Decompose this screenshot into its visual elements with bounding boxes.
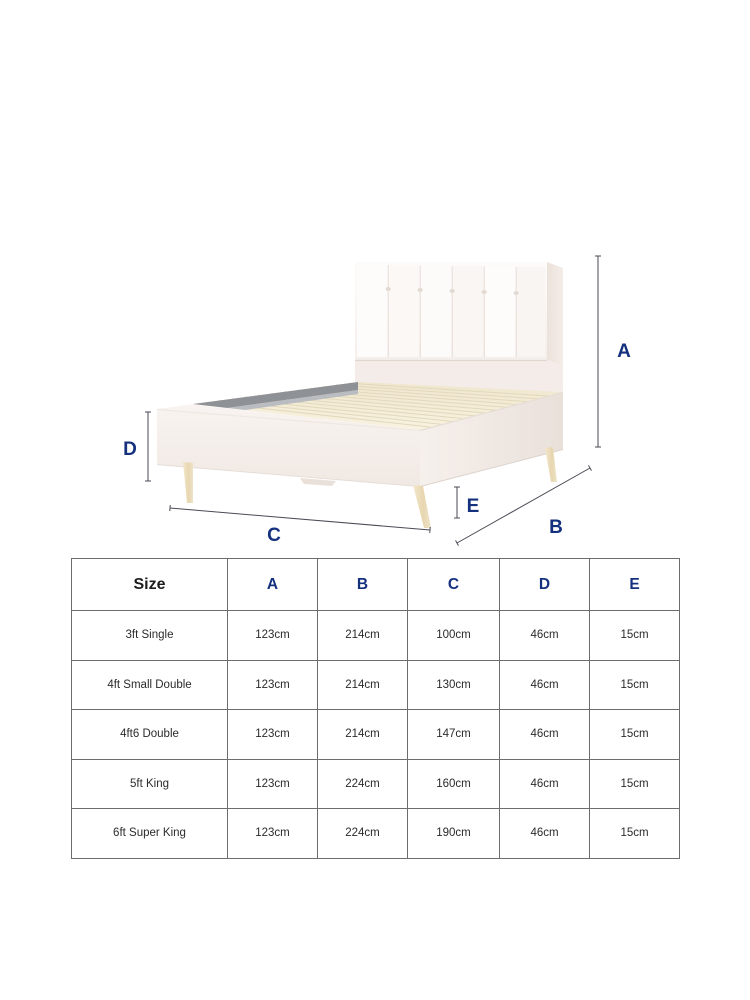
product-dimensions-page: A B C D E Size A B C D E: [0, 0, 750, 1000]
dimension-label-a: A: [617, 341, 631, 362]
cell-a: 123cm: [228, 660, 318, 710]
cell-a: 123cm: [228, 710, 318, 760]
cell-size: 4ft6 Double: [72, 710, 228, 760]
cell-c: 190cm: [408, 809, 500, 859]
cell-b: 224cm: [318, 809, 408, 859]
cell-b: 214cm: [318, 710, 408, 760]
cell-d: 46cm: [500, 759, 590, 809]
cell-size: 4ft Small Double: [72, 660, 228, 710]
cell-a: 123cm: [228, 809, 318, 859]
column-header-c: C: [408, 559, 500, 611]
cell-e: 15cm: [590, 710, 680, 760]
cell-e: 15cm: [590, 809, 680, 859]
leg-back-right: [545, 447, 557, 482]
leg-front-right: [413, 485, 431, 528]
table-row: 4ft6 Double 123cm 214cm 147cm 46cm 15cm: [72, 710, 680, 760]
column-header-b: B: [318, 559, 408, 611]
bed-illustration: [157, 262, 563, 528]
column-header-a: A: [228, 559, 318, 611]
cell-a: 123cm: [228, 759, 318, 809]
cell-a: 123cm: [228, 611, 318, 661]
cell-d: 46cm: [500, 660, 590, 710]
cell-d: 46cm: [500, 809, 590, 859]
cell-size: 6ft Super King: [72, 809, 228, 859]
cell-size: 5ft King: [72, 759, 228, 809]
cell-c: 160cm: [408, 759, 500, 809]
cell-c: 100cm: [408, 611, 500, 661]
cell-d: 46cm: [500, 710, 590, 760]
column-header-e: E: [590, 559, 680, 611]
cell-b: 214cm: [318, 660, 408, 710]
cell-e: 15cm: [590, 660, 680, 710]
dimension-label-e: E: [467, 496, 480, 517]
dimension-line-c: [170, 508, 430, 530]
table-header-row: Size A B C D E: [72, 559, 680, 611]
cell-e: 15cm: [590, 611, 680, 661]
cell-b: 214cm: [318, 611, 408, 661]
cell-c: 147cm: [408, 710, 500, 760]
column-header-d: D: [500, 559, 590, 611]
dimension-label-b: B: [549, 517, 563, 538]
headboard-side-panel: [547, 262, 563, 366]
leg-front-left: [183, 462, 193, 503]
dimension-label-c: C: [267, 525, 281, 546]
size-specification-table: Size A B C D E 3ft Single 123cm 214cm 10…: [71, 558, 679, 859]
table-row: 3ft Single 123cm 214cm 100cm 46cm 15cm: [72, 611, 680, 661]
dimension-label-d: D: [123, 439, 137, 460]
table-row: 4ft Small Double 123cm 214cm 130cm 46cm …: [72, 660, 680, 710]
cell-d: 46cm: [500, 611, 590, 661]
cell-b: 224cm: [318, 759, 408, 809]
column-header-size: Size: [72, 559, 228, 611]
cell-size: 3ft Single: [72, 611, 228, 661]
table-row: 5ft King 123cm 224cm 160cm 46cm 15cm: [72, 759, 680, 809]
table-row: 6ft Super King 123cm 224cm 190cm 46cm 15…: [72, 809, 680, 859]
cell-c: 130cm: [408, 660, 500, 710]
bed-dimension-diagram: A B C D E: [0, 0, 750, 556]
cell-e: 15cm: [590, 759, 680, 809]
